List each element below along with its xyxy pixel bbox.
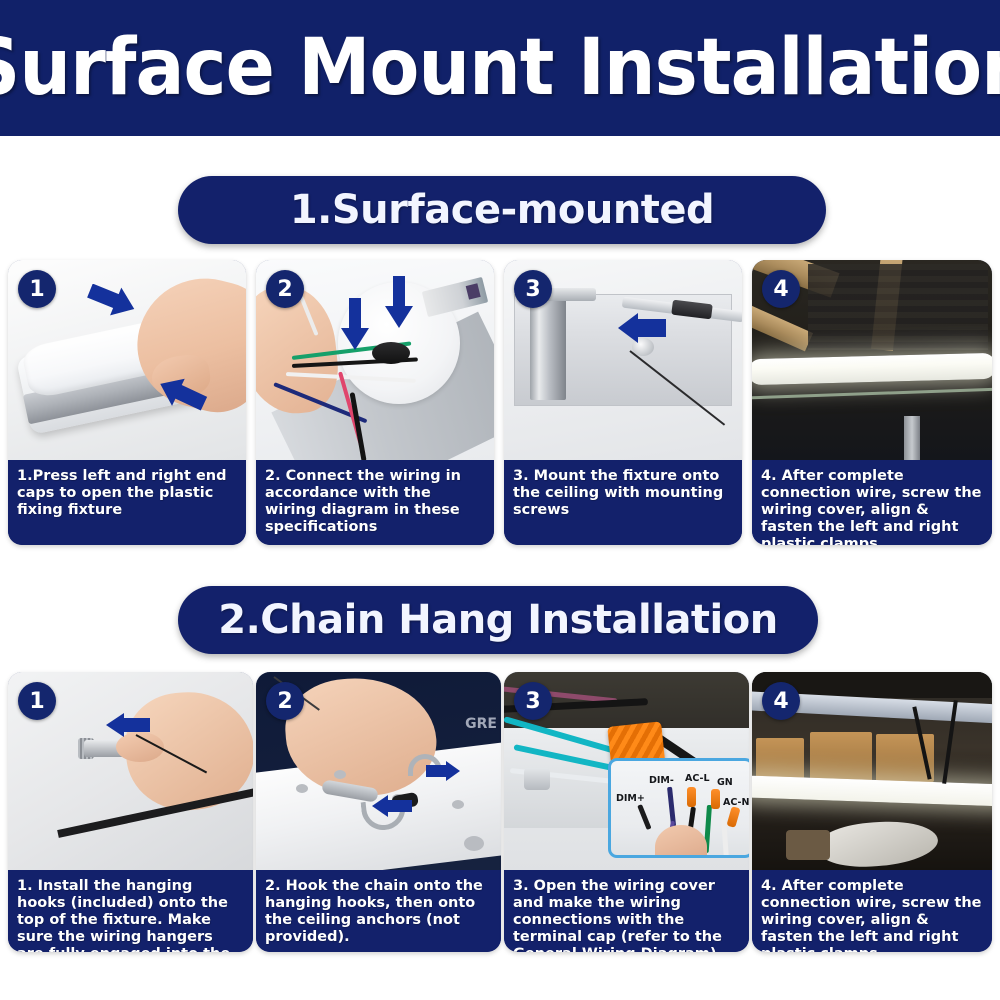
step-caption-surface-4: 4. After complete connection wire, screw…	[752, 460, 992, 545]
direction-arrow-icon	[86, 284, 138, 320]
section-header-chain-hang: 2.Chain Hang Installation	[178, 586, 818, 654]
step-caption-surface-3: 3. Mount the fixture onto the ceiling wi…	[504, 460, 742, 545]
step-badge-chain-1: 1	[18, 682, 56, 720]
step-card-surface-2: 2 2. Connect the wiring in accordance wi…	[256, 260, 494, 545]
step-card-chain-2: GRE 2 2. Hook the chain onto the hanging…	[256, 672, 501, 952]
page-title: Surface Mount Installation	[0, 23, 1000, 113]
direction-arrow-icon	[340, 296, 370, 352]
direction-arrow-icon	[616, 312, 668, 344]
step-caption-chain-4: 4. After complete connection wire, screw…	[752, 870, 992, 952]
step-card-surface-3: 3 3. Mount the fixture onto the ceiling …	[504, 260, 742, 545]
step-badge-surface-4: 4	[762, 270, 800, 308]
wiring-label-dim-minus: DIM-	[649, 775, 674, 786]
step-badge-chain-2: 2	[266, 682, 304, 720]
step-card-chain-4: 4 4. After complete connection wire, scr…	[752, 672, 992, 952]
step-card-chain-1: 1 1. Install the hanging hooks (included…	[8, 672, 253, 952]
step-badge-surface-2: 2	[266, 270, 304, 308]
step-card-surface-4: 4 4. After complete connection wire, scr…	[752, 260, 992, 545]
step-caption-chain-3: 3. Open the wiring cover and make the wi…	[504, 870, 749, 952]
step-caption-surface-2: 2. Connect the wiring in accordance with…	[256, 460, 494, 545]
step-caption-surface-1: 1.Press left and right end caps to open …	[8, 460, 246, 545]
wiring-diagram-inset: DIM+ DIM- AC-L GN AC-N	[608, 758, 749, 858]
step-caption-chain-1: 1. Install the hanging hooks (included) …	[8, 870, 253, 952]
direction-arrow-icon	[370, 794, 414, 818]
page-header: Surface Mount Installation	[0, 0, 1000, 136]
step-caption-chain-2: 2. Hook the chain onto the hanging hooks…	[256, 870, 501, 952]
section-header-label: 2.Chain Hang Installation	[218, 597, 777, 643]
step-badge-surface-1: 1	[18, 270, 56, 308]
direction-arrow-icon	[104, 712, 152, 738]
section-header-label: 1.Surface-mounted	[290, 187, 714, 233]
direction-arrow-icon	[156, 378, 208, 414]
step-badge-chain-3: 3	[514, 682, 552, 720]
step-badge-chain-4: 4	[762, 682, 800, 720]
step-card-chain-3: DIM+ DIM- AC-L GN AC-N 3 3. Open the wir…	[504, 672, 749, 952]
wiring-label-gn: GN	[717, 777, 733, 788]
step-card-surface-1: 1 1.Press left and right end caps to ope…	[8, 260, 246, 545]
direction-arrow-icon	[424, 760, 462, 782]
section-header-surface-mounted: 1.Surface-mounted	[178, 176, 826, 244]
direction-arrow-icon	[384, 274, 414, 330]
shirt-logo-text: GRE	[465, 716, 497, 732]
wiring-label-ac-l: AC-L	[685, 773, 710, 784]
step-badge-surface-3: 3	[514, 270, 552, 308]
wiring-label-dim-plus: DIM+	[616, 793, 645, 804]
